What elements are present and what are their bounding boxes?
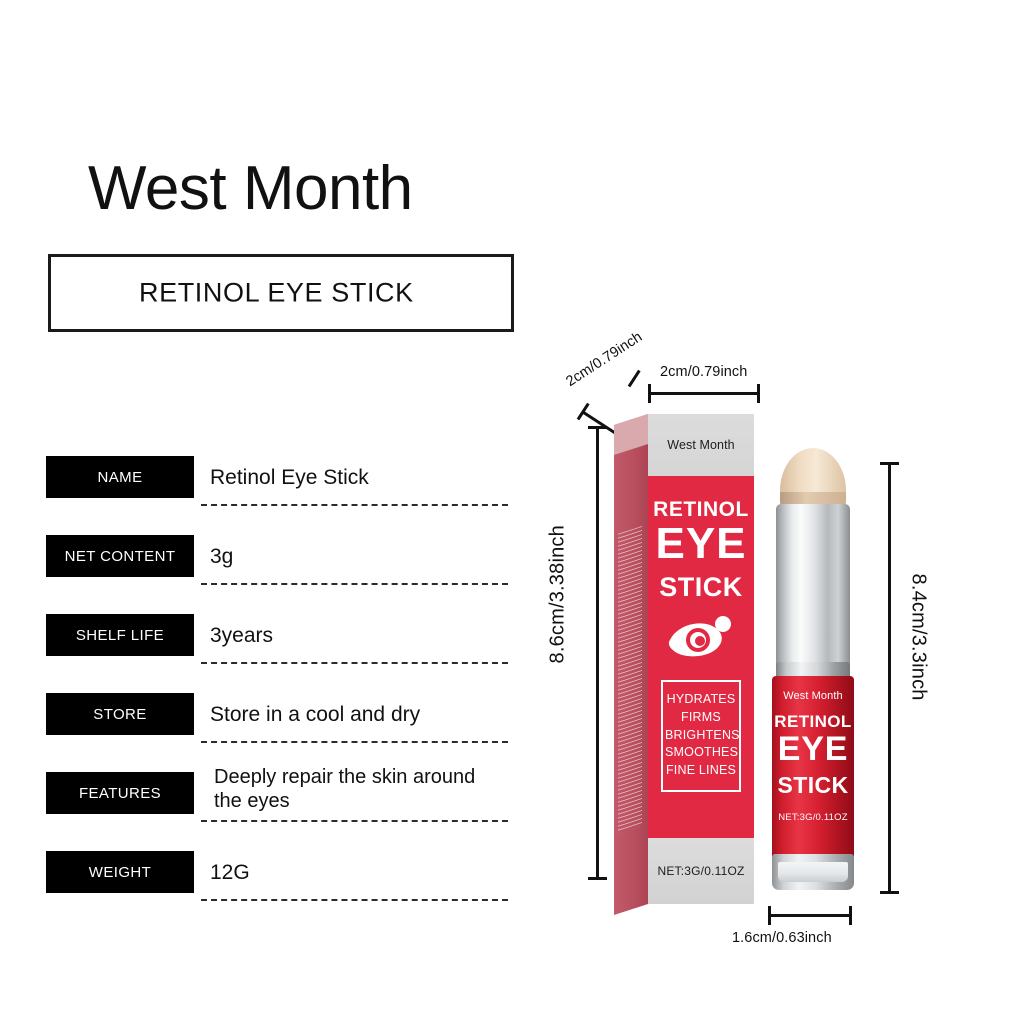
spec-value-store: Store in a cool and dry	[210, 687, 504, 743]
table-row: SHELF LIFE 3years	[46, 608, 516, 687]
carton-footer-band: NET:3G/0.11OZ	[648, 838, 754, 904]
spec-key-shelf-life: SHELF LIFE	[46, 614, 194, 656]
row-divider	[201, 583, 508, 585]
row-divider	[201, 741, 508, 743]
carton-benefits-text: HYDRATES FIRMS BRIGHTENS SMOOTHES FINE L…	[665, 692, 740, 777]
spec-value-shelf-life: 3years	[210, 608, 504, 664]
carton-benefits-list: HYDRATES FIRMS BRIGHTENS SMOOTHES FINE L…	[661, 680, 741, 792]
row-divider	[201, 504, 508, 506]
page-title: West Month	[88, 158, 413, 220]
spec-value-name: Retinol Eye Stick	[210, 450, 504, 506]
table-row: NET CONTENT 3g	[46, 529, 516, 608]
stick-brand-label: West Month	[772, 690, 854, 702]
dimension-stick-height-label: 8.4cm/3.3inch	[907, 574, 930, 701]
table-row: STORE Store in a cool and dry	[46, 687, 516, 766]
eye-logo-icon	[665, 614, 737, 662]
row-divider	[201, 662, 508, 664]
carton-side-fine-print	[618, 526, 642, 834]
table-row: FEATURES Deeply repair the skin around t…	[46, 766, 516, 845]
spec-key-weight: WEIGHT	[46, 851, 194, 893]
spec-value-net-content: 3g	[210, 529, 504, 585]
stick-word-eye: EYE	[772, 732, 854, 766]
spec-key-features: FEATURES	[46, 772, 194, 814]
table-row: WEIGHT 12G	[46, 845, 516, 924]
row-divider	[201, 820, 508, 822]
carton-front-panel: West Month RETINOL EYE STICK HYDRATES FI…	[648, 414, 754, 904]
product-stick: West Month RETINOL EYE STICK NET:3G/0.11…	[764, 448, 862, 900]
dimension-stick-width-label: 1.6cm/0.63inch	[732, 930, 832, 946]
stick-word-stick: STICK	[772, 772, 854, 799]
spec-key-name: NAME	[46, 456, 194, 498]
product-title-box: RETINOL EYE STICK	[48, 254, 514, 332]
carton-header-band: West Month	[648, 414, 754, 476]
stick-chrome-barrel	[776, 504, 850, 680]
spec-key-net-content: NET CONTENT	[46, 535, 194, 577]
spec-key-store: STORE	[46, 693, 194, 735]
spec-value-features: Deeply repair the skin around the eyes	[210, 758, 504, 822]
spec-value-weight: 12G	[210, 845, 504, 901]
row-divider	[201, 899, 508, 901]
stick-base-inner	[778, 862, 848, 882]
specification-table: NAME Retinol Eye Stick NET CONTENT 3g SH…	[46, 450, 516, 924]
carton-net-weight-label: NET:3G/0.11OZ	[657, 864, 744, 878]
table-row: NAME Retinol Eye Stick	[46, 450, 516, 529]
carton-word-stick: STICK	[648, 572, 754, 603]
product-title-label: RETINOL EYE STICK	[139, 278, 414, 309]
stick-net-weight-label: NET:3G/0.11OZ	[772, 812, 854, 823]
dimension-carton-height-label: 8.6cm/3.38inch	[547, 525, 570, 663]
carton-brand-label: West Month	[667, 438, 734, 452]
carton-word-eye: EYE	[648, 522, 754, 566]
product-carton: West Month RETINOL EYE STICK HYDRATES FI…	[614, 414, 754, 904]
stick-red-body: West Month RETINOL EYE STICK NET:3G/0.11…	[772, 676, 854, 858]
product-image-stage: 2cm/0.79inch 2cm/0.79inch 8.6cm/3.38inch…	[536, 352, 996, 972]
stick-word-retinol: RETINOL	[772, 712, 854, 732]
dimension-carton-width-label: 2cm/0.79inch	[660, 364, 747, 380]
